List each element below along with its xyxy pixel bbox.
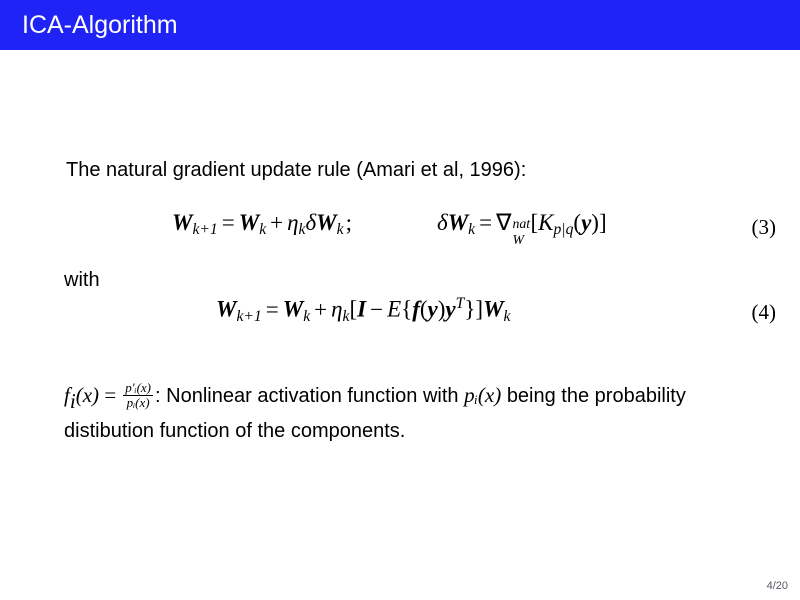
- eq4-tail-W: W: [483, 297, 503, 322]
- equation-3-row: Wk+1=Wk+ηkδWk; δWk=∇natW[Kp|q(y)] (3): [0, 210, 800, 256]
- def-equals: =: [99, 383, 121, 407]
- eq4-brace-close: }: [464, 297, 475, 322]
- eq4-equals: =: [262, 297, 283, 322]
- intro-text: The natural gradient update rule (Amari …: [66, 158, 526, 182]
- eq3r-paren-open: (: [573, 210, 581, 235]
- eq3-dW: W: [316, 210, 336, 235]
- nabla-subscript: W: [512, 232, 524, 248]
- eq4-plus: +: [310, 297, 331, 322]
- eq4-lhs-W: W: [216, 297, 236, 322]
- eq4-brace-open: {: [401, 297, 412, 322]
- eq3-rhs-W: W: [239, 210, 259, 235]
- equation-4-expression: Wk+1=Wk+ηk[I−E{f(y)yT}]Wk: [216, 295, 510, 326]
- eq3-lhs-W: W: [172, 210, 192, 235]
- eq4-y1: y: [428, 297, 438, 322]
- equation-3-right: δWk=∇natW[Kp|q(y)]: [437, 210, 607, 239]
- eq4-f: f: [412, 297, 420, 322]
- eq4-eta: η: [331, 297, 342, 322]
- eq3r-delta: δ: [437, 210, 448, 235]
- slide-title-bar: ICA-Algorithm: [0, 0, 800, 50]
- nabla-icon: ∇: [496, 210, 511, 235]
- eq4-y2: y: [445, 297, 455, 322]
- page-number: 4/20: [767, 580, 788, 592]
- equation-3-number: (3): [752, 215, 777, 240]
- eq3-lhs-sub: k+1: [192, 221, 217, 239]
- definition-paragraph: fi(x)=p′ᵢ(x)pᵢ(x): Nonlinear activation …: [64, 380, 764, 446]
- eq4-minus: −: [366, 297, 387, 322]
- eq3r-K-sub: p|q: [553, 221, 573, 239]
- derivative-ratio-fraction: p′ᵢ(x)pᵢ(x): [123, 381, 153, 410]
- eq4-bracket-open: [: [349, 297, 357, 322]
- eq4-bracket-close: ]: [475, 297, 483, 322]
- nabla-superscript: nat: [512, 216, 530, 232]
- def-text-2: being the: [507, 385, 589, 407]
- with-text: with: [64, 268, 100, 292]
- page-title: ICA-Algorithm: [22, 11, 178, 39]
- eq4-identity: I: [357, 297, 366, 322]
- eq3r-K: K: [538, 210, 553, 235]
- eq3-plus: +: [266, 210, 287, 235]
- def-f-arg: x: [83, 383, 92, 407]
- equation-4-row: Wk+1=Wk+ηk[I−E{f(y)yT}]Wk (4): [0, 295, 800, 341]
- def-colon: :: [155, 385, 161, 407]
- def-text-1: Nonlinear activation function with: [166, 385, 458, 407]
- eq3r-bracket-open: [: [530, 210, 538, 235]
- eq3-equals: =: [218, 210, 239, 235]
- def-paren-open: (: [76, 383, 83, 407]
- eq4-tail-sub: k: [504, 308, 511, 326]
- def-paren-close: ): [92, 383, 99, 407]
- eq3r-W: W: [448, 210, 468, 235]
- slide-content-area: The natural gradient update rule (Amari …: [0, 50, 800, 600]
- eq3-eta: η: [287, 210, 298, 235]
- eq4-expectation: E: [387, 297, 401, 322]
- eq3r-bracket-close: ]: [599, 210, 607, 235]
- eq3-dW-sub: k: [337, 221, 344, 239]
- equation-4-number: (4): [752, 300, 777, 325]
- eq3r-equals: =: [475, 210, 496, 235]
- equation-3-left: Wk+1=Wk+ηkδWk;: [172, 210, 354, 239]
- fraction-denominator: pᵢ(x): [123, 396, 153, 410]
- eq3r-y: y: [581, 210, 591, 235]
- eq3-delta: δ: [305, 210, 316, 235]
- eq3-terminator: ;: [344, 210, 354, 235]
- eq3r-paren-close: ): [591, 210, 599, 235]
- def-inline-p: pᵢ(x): [464, 383, 501, 407]
- eq4-paren1-open: (: [420, 297, 428, 322]
- fraction-numerator: p′ᵢ(x): [123, 381, 153, 396]
- eq4-rhs-W: W: [283, 297, 303, 322]
- eq4-lhs-sub: k+1: [236, 308, 261, 326]
